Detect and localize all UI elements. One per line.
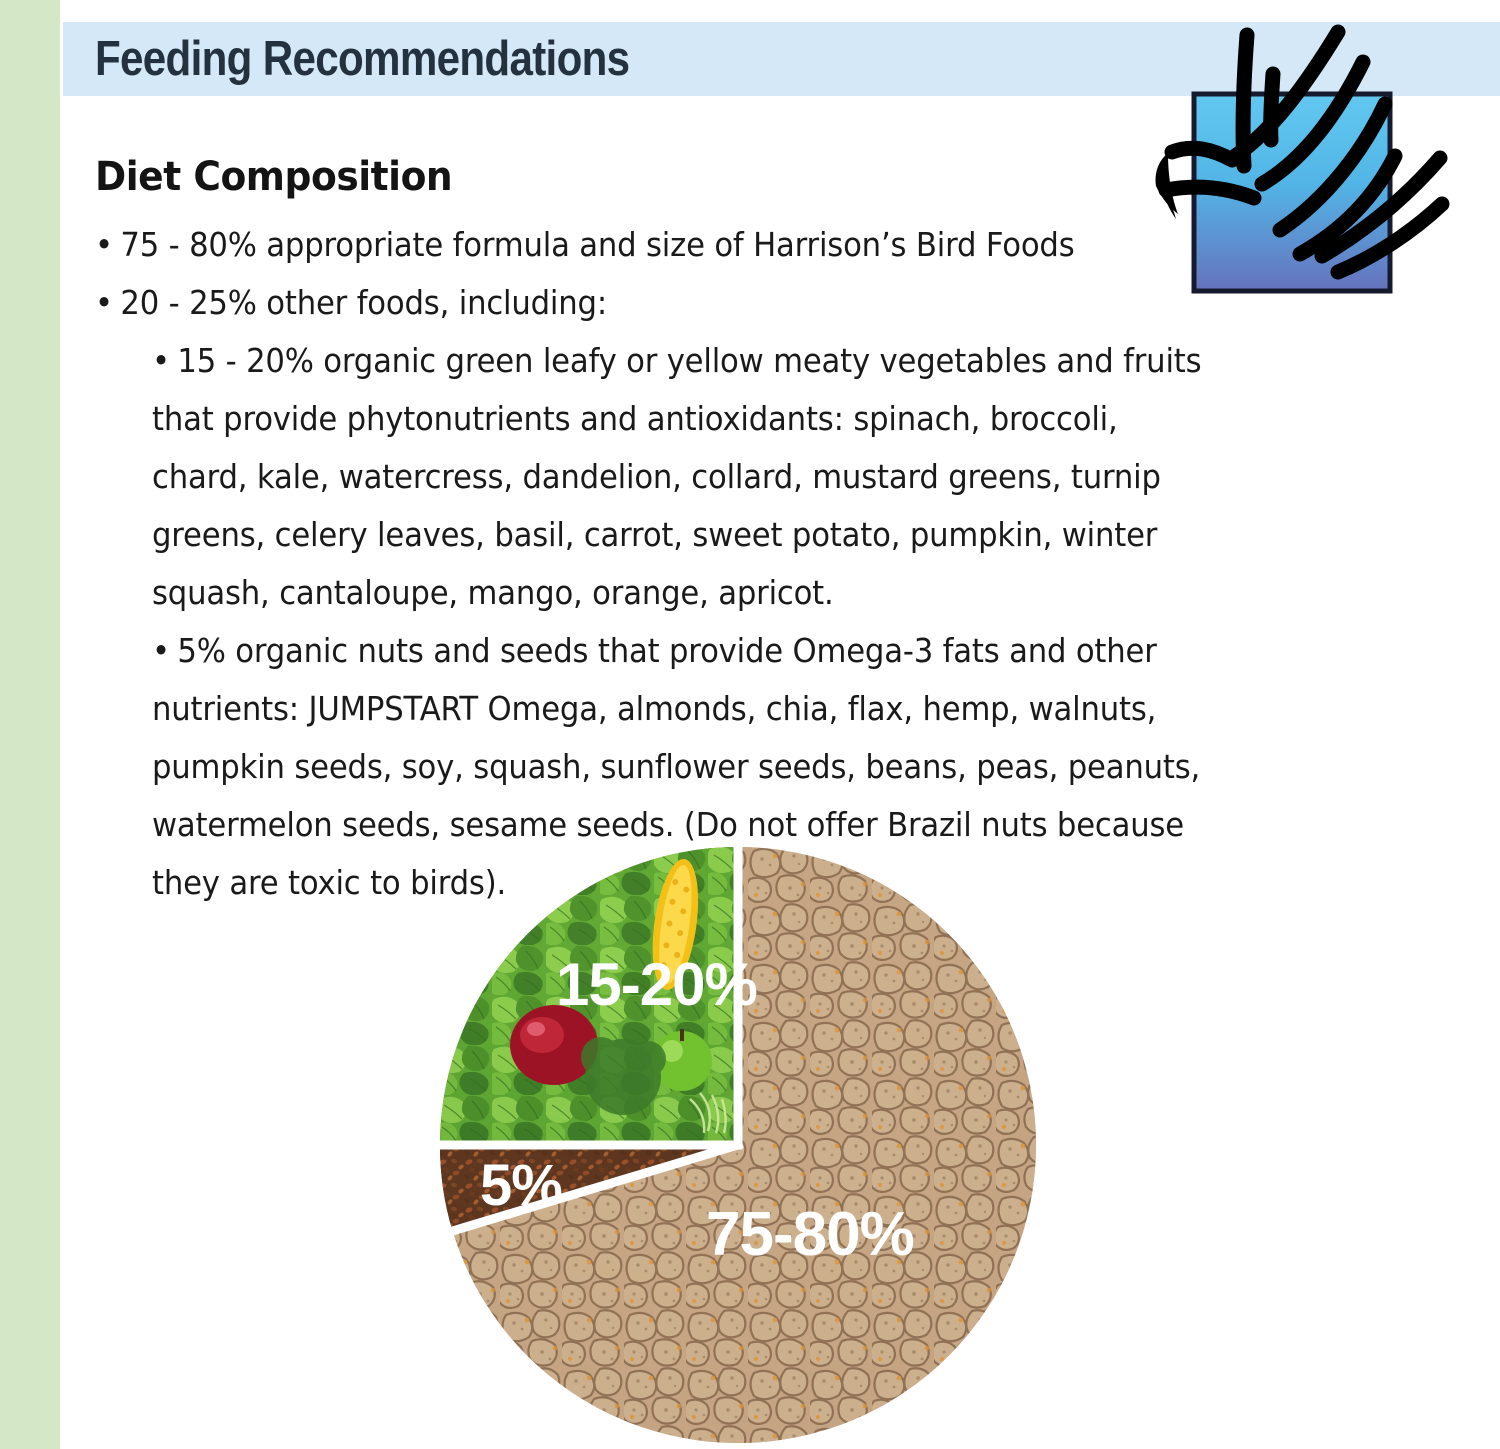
bullet-marker: • bbox=[95, 274, 113, 332]
bullet-continuation-line: squash, cantaloupe, mango, orange, apric… bbox=[152, 564, 1196, 622]
diet-bullet-list: •75 - 80% appropriate formula and size o… bbox=[95, 216, 1275, 912]
bullet-text: 20 - 25% other foods, including: bbox=[120, 283, 607, 322]
bullet-text: pumpkin seeds, soy, squash, sunflower se… bbox=[152, 747, 1200, 786]
bullet-continuation-line: chard, kale, watercress, dandelion, coll… bbox=[152, 448, 1196, 506]
bullet-text: 75 - 80% appropriate formula and size of… bbox=[120, 225, 1074, 264]
bullet-continuation-line: greens, celery leaves, basil, carrot, sw… bbox=[152, 506, 1196, 564]
pie-label-kibble: 75-80% bbox=[706, 1200, 914, 1269]
bullet-text: nutrients: JUMPSTART Omega, almonds, chi… bbox=[152, 689, 1156, 728]
bullet-continuation-line: that provide phytonutrients and antioxid… bbox=[152, 390, 1196, 448]
bullet-marker: • bbox=[95, 216, 113, 274]
bullet-item: •5% organic nuts and seeds that provide … bbox=[152, 622, 1196, 680]
bullet-text: squash, cantaloupe, mango, orange, apric… bbox=[152, 573, 834, 612]
bullet-item: •75 - 80% appropriate formula and size o… bbox=[95, 216, 1192, 274]
bullet-item: •15 - 20% organic green leafy or yellow … bbox=[152, 332, 1196, 390]
bullet-continuation-line: pumpkin seeds, soy, squash, sunflower se… bbox=[152, 738, 1196, 796]
bullet-marker: • bbox=[152, 332, 170, 390]
page-title: Feeding Recommendations bbox=[95, 28, 629, 90]
bullet-continuation-line: nutrients: JUMPSTART Omega, almonds, chi… bbox=[152, 680, 1196, 738]
section-heading: Diet Composition bbox=[95, 150, 1204, 204]
bullet-text: 5% organic nuts and seeds that provide O… bbox=[177, 631, 1156, 670]
diet-composition-section: Diet Composition •75 - 80% appropriate f… bbox=[95, 150, 1275, 912]
pie-label-vegetables: 15-20% bbox=[556, 951, 757, 1018]
pie-label-seeds: 5% bbox=[480, 1153, 562, 1218]
bullet-text: 15 - 20% organic green leafy or yellow m… bbox=[177, 341, 1201, 380]
left-accent-strip bbox=[0, 0, 60, 1449]
bullet-text: that provide phytonutrients and antioxid… bbox=[152, 399, 1118, 438]
diet-composition-pie-chart: 15-20% 5% 75-80% bbox=[438, 845, 1038, 1445]
bullet-item: •20 - 25% other foods, including: bbox=[95, 274, 1192, 332]
bullet-text: watermelon seeds, sesame seeds. (Do not … bbox=[152, 805, 1184, 844]
bullet-text: chard, kale, watercress, dandelion, coll… bbox=[152, 457, 1161, 496]
bullet-marker: • bbox=[152, 622, 170, 680]
bullet-text: greens, celery leaves, basil, carrot, sw… bbox=[152, 515, 1157, 554]
